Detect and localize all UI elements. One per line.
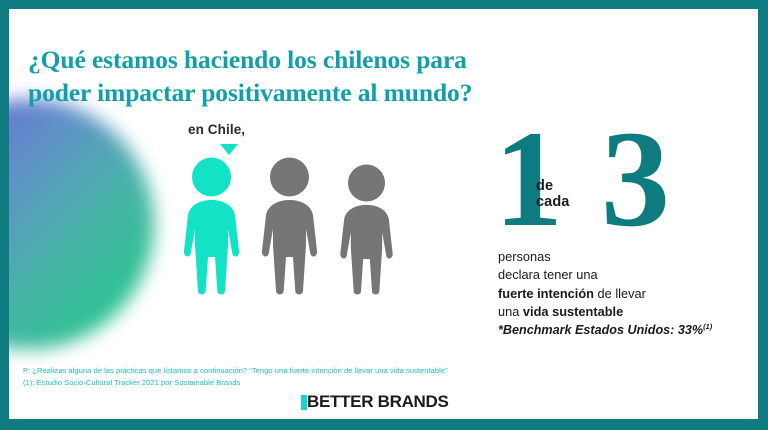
infographic-slide: ¿Qué estamos haciendo los chilenos para … bbox=[0, 0, 768, 430]
statistic-description: personas declara tener una fuerte intenc… bbox=[498, 248, 758, 322]
headline-line-1: ¿Qué estamos haciendo los chilenos para bbox=[28, 44, 648, 77]
desc-line-4: una vida sustentable bbox=[498, 303, 758, 321]
person-icon-muted-1 bbox=[261, 157, 318, 297]
triangle-down-icon bbox=[220, 144, 238, 155]
desc-line-4-bold: vida sustentable bbox=[523, 304, 623, 319]
page-title: ¿Qué estamos haciendo los chilenos para … bbox=[28, 44, 648, 109]
desc-line-3-rest: de llevar bbox=[594, 286, 646, 301]
en-chile-label: en Chile, bbox=[188, 122, 245, 137]
desc-line-2: declara tener una bbox=[498, 266, 758, 284]
slide-border-bottom bbox=[0, 419, 768, 430]
footnotes: P: ¿Realizas alguna de las prácticas que… bbox=[23, 365, 448, 389]
gradient-circle-decoration bbox=[0, 99, 154, 349]
desc-line-3-bold: fuerte intención bbox=[498, 286, 594, 301]
stat-connector: de cada bbox=[536, 178, 569, 210]
desc-line-3: fuerte intención de llevar bbox=[498, 285, 758, 303]
slide-border-left bbox=[0, 0, 9, 430]
slide-border-right bbox=[758, 0, 768, 430]
slide-border-top bbox=[0, 0, 768, 9]
person-icon-muted-2 bbox=[339, 164, 394, 297]
logo-text: BETTER BRANDS bbox=[307, 392, 449, 412]
person-figure-row bbox=[183, 157, 394, 297]
footnote-question: P: ¿Realizas alguna de las prácticas que… bbox=[23, 365, 448, 377]
benchmark-text: *Benchmark Estados Unidos: 33% bbox=[498, 323, 703, 337]
desc-line-4-rest: una bbox=[498, 304, 523, 319]
footnote-source: (1): Estudio Socio-Cultural Tracker 2021… bbox=[23, 377, 448, 389]
better-brands-logo: BETTER BRANDS bbox=[301, 392, 449, 412]
stat-denominator: 3 bbox=[601, 110, 670, 248]
benchmark-note: *Benchmark Estados Unidos: 33%(1) bbox=[498, 322, 712, 337]
person-icon-highlighted bbox=[183, 157, 240, 297]
desc-line-1: personas bbox=[498, 248, 758, 266]
benchmark-reference: (1) bbox=[703, 322, 712, 331]
